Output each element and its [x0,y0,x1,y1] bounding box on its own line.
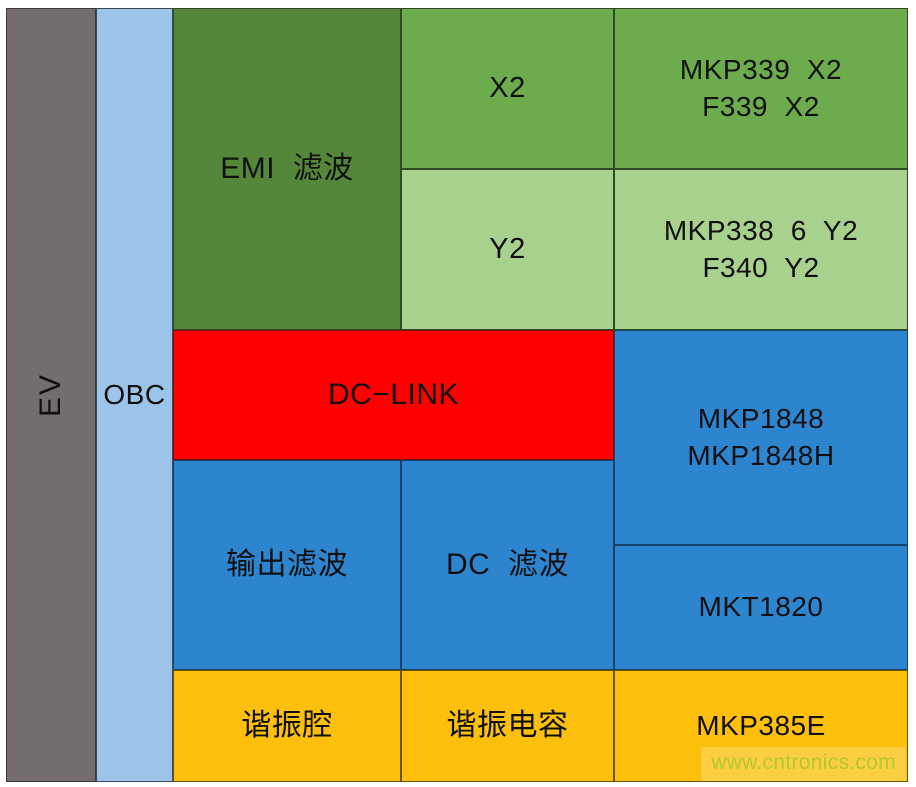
block-ev-label: EV [31,373,71,417]
block-y2-part-1: MKP338 6 Y2 [664,213,858,250]
block-obc: OBC [96,8,173,782]
block-x2-label: X2 [489,69,525,107]
block-dclink-part-1: MKP1848 [698,401,824,438]
block-y2-part-2: F340 Y2 [702,250,819,287]
block-output-filter: 输出滤波 [173,460,401,670]
block-y2: Y2 [401,169,614,330]
block-dc-filter-part: MKT1820 [614,545,908,670]
block-obc-label: OBC [103,377,165,414]
block-dc-filter-label: DC 滤波 [446,545,569,585]
block-emi-filter: EMI 滤波 [173,8,401,330]
block-emi-filter-label: EMI 滤波 [220,149,354,189]
block-x2-part-2: F339 X2 [702,89,820,126]
block-resonant-part: MKP385E [614,670,908,782]
block-y2-label: Y2 [489,230,525,268]
block-dc-filter-part-label: MKT1820 [699,589,824,626]
obc-capacitor-block-diagram: EV OBC EMI 滤波 X2 Y2 MKP339 X2 F339 X2 MK… [0,0,916,787]
block-dc-link: DC−LINK [173,330,614,460]
block-resonant-capacitor: 谐振电容 [401,670,614,782]
block-resonant-cavity: 谐振腔 [173,670,401,782]
block-resonant-cavity-label: 谐振腔 [241,706,333,746]
block-y2-parts: MKP338 6 Y2 F340 Y2 [614,169,908,330]
block-dc-link-label: DC−LINK [328,375,459,415]
block-x2-part-1: MKP339 X2 [680,52,842,89]
block-dc-filter: DC 滤波 [401,460,614,670]
block-output-filter-label: 输出滤波 [226,545,348,585]
block-x2: X2 [401,8,614,169]
block-resonant-capacitor-label: 谐振电容 [447,706,569,746]
block-resonant-part-label: MKP385E [696,708,826,745]
block-x2-parts: MKP339 X2 F339 X2 [614,8,908,169]
block-dclink-part-2: MKP1848H [687,438,834,475]
block-dclink-parts: MKP1848 MKP1848H [614,330,908,545]
block-ev: EV [6,8,96,782]
